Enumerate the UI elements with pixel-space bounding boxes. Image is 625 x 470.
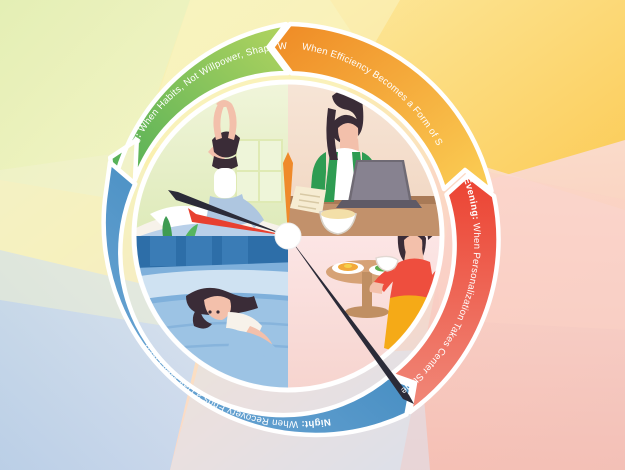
label-morning-bold: Morning: (0, 0, 144, 145)
wheel-diagram: Morning: When Habits, Not Willpower, Sha… (0, 0, 625, 470)
label-lunch-bold: Lunch: (0, 0, 3, 3)
infographic-canvas: Morning: When Habits, Not Willpower, Sha… (0, 0, 625, 470)
